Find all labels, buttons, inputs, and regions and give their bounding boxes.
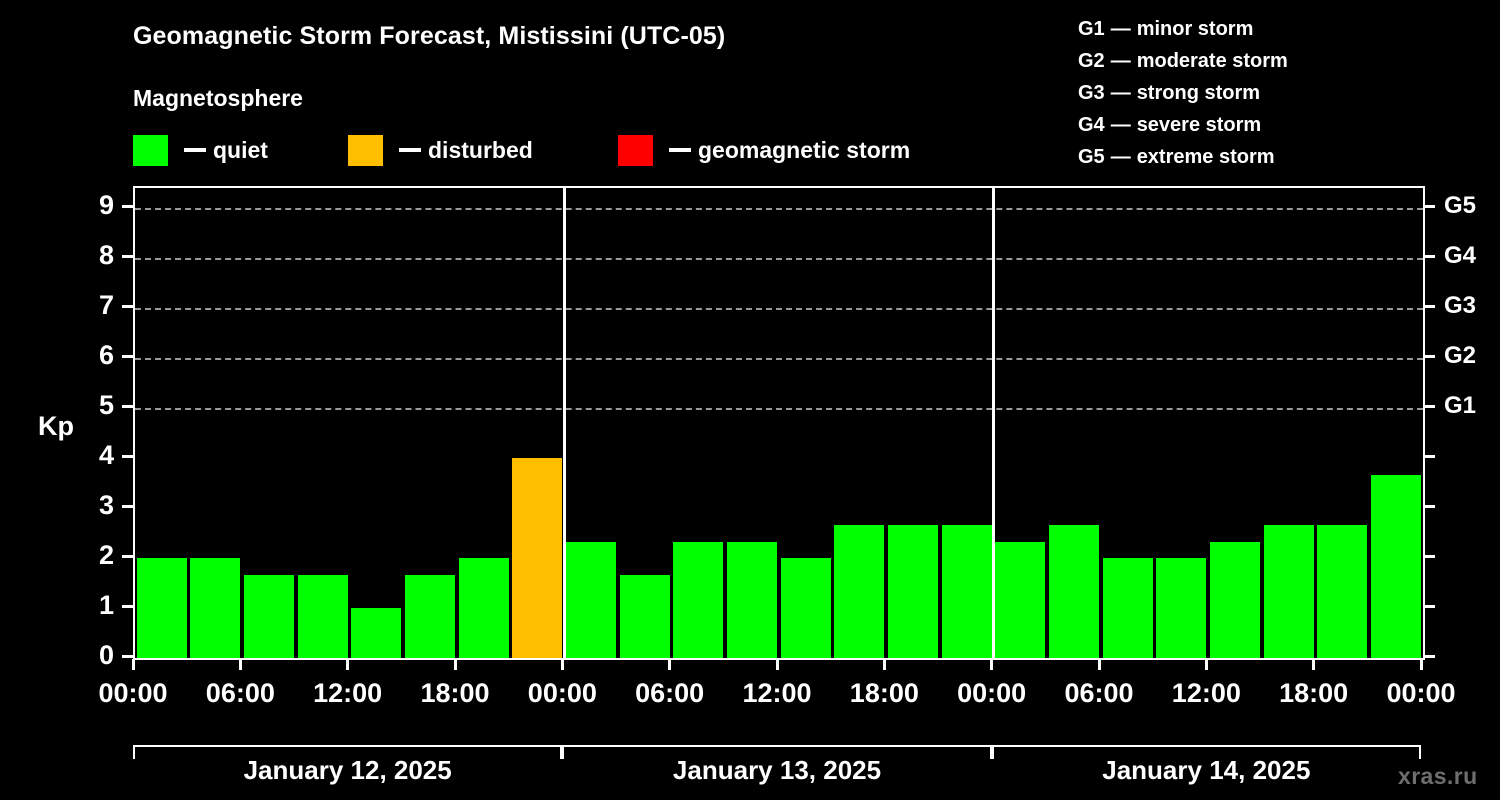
g-tick-mark: [1424, 355, 1435, 358]
x-tick-label: 00:00: [98, 680, 167, 707]
x-tick-mark: [346, 659, 349, 670]
gscale-row-g5: G5—extreme storm: [1078, 141, 1288, 173]
day-separator: [992, 188, 995, 658]
gscale-row-g1: G1—minor storm: [1078, 13, 1288, 45]
x-tick-mark: [776, 659, 779, 670]
gscale-dash-icon: —: [1111, 18, 1131, 41]
x-tick-label: 18:00: [850, 680, 919, 707]
g-tick-mark-minor: [1424, 505, 1435, 508]
y-tick-label: 8: [72, 242, 114, 269]
bar: [459, 558, 509, 658]
gscale-dash-icon: —: [1111, 146, 1131, 169]
y-tick-mark: [122, 255, 133, 258]
gscale-dash-icon: —: [1111, 114, 1131, 137]
gscale-code: G1: [1078, 18, 1105, 41]
x-tick-label: 00:00: [1386, 680, 1455, 707]
y-tick-label: 6: [72, 342, 114, 369]
bar: [244, 575, 294, 659]
x-tick-label: 06:00: [1064, 680, 1133, 707]
y-axis-title: Kp: [38, 411, 74, 442]
x-tick-mark: [990, 659, 993, 670]
bar: [995, 542, 1045, 659]
y-tick-mark: [122, 355, 133, 358]
x-tick-mark: [668, 659, 671, 670]
bar: [620, 575, 670, 659]
x-tick-mark: [132, 659, 135, 670]
y-tick-label: 4: [72, 442, 114, 469]
g-tick-mark: [1424, 405, 1435, 408]
y-tick-label: 0: [72, 642, 114, 669]
y-tick-mark: [122, 455, 133, 458]
g-tick-mark-minor: [1424, 455, 1435, 458]
y-tick-label: 2: [72, 542, 114, 569]
legend-swatch-quiet: [133, 135, 168, 166]
y-tick-mark: [122, 205, 133, 208]
gscale-description: severe storm: [1137, 114, 1262, 137]
bar: [781, 558, 831, 658]
bar: [512, 458, 562, 658]
legend-label: geomagnetic storm: [698, 137, 910, 164]
bar: [942, 525, 992, 659]
bar: [888, 525, 938, 659]
y-tick-label: 3: [72, 492, 114, 519]
gridline-kp-5: [135, 408, 1423, 410]
x-tick-label: 18:00: [420, 680, 489, 707]
day-label: January 12, 2025: [244, 755, 452, 786]
bar: [834, 525, 884, 659]
x-tick-mark: [561, 659, 564, 670]
gscale-legend: G1—minor stormG2—moderate stormG3—strong…: [1078, 13, 1288, 173]
g-tick-mark-minor: [1424, 555, 1435, 558]
x-tick-mark: [1312, 659, 1315, 670]
legend-swatch-disturbed: [348, 135, 383, 166]
x-tick-label: 18:00: [1279, 680, 1348, 707]
legend-label: disturbed: [428, 137, 533, 164]
day-separator: [563, 188, 566, 658]
x-tick-label: 00:00: [528, 680, 597, 707]
bar: [190, 558, 240, 658]
x-tick-label: 06:00: [635, 680, 704, 707]
gscale-row-g2: G2—moderate storm: [1078, 45, 1288, 77]
bar: [137, 558, 187, 658]
g-tick-label: G1: [1444, 394, 1476, 418]
bar: [1371, 475, 1421, 659]
gscale-description: minor storm: [1137, 18, 1254, 41]
gridline-kp-7: [135, 308, 1423, 310]
gscale-dash-icon: —: [1111, 82, 1131, 105]
legend-dash-icon: [184, 148, 206, 152]
bar: [727, 542, 777, 659]
magnetosphere-legend: quietdisturbedgeomagnetic storm: [133, 133, 1033, 167]
gridline-kp-8: [135, 258, 1423, 260]
bar: [673, 542, 723, 659]
legend-swatch-geomagnetic-storm: [618, 135, 653, 166]
g-tick-label: G4: [1444, 244, 1476, 268]
gscale-row-g4: G4—severe storm: [1078, 109, 1288, 141]
bar: [1049, 525, 1099, 659]
g-tick-label: G3: [1444, 294, 1476, 318]
g-tick-label: G5: [1444, 194, 1476, 218]
y-tick-mark: [122, 405, 133, 408]
x-tick-mark: [1098, 659, 1101, 670]
gscale-code: G2: [1078, 50, 1105, 73]
day-label: January 14, 2025: [1102, 755, 1310, 786]
legend-entry-disturbed: disturbed: [348, 133, 533, 167]
y-tick-mark: [122, 555, 133, 558]
g-tick-mark: [1424, 205, 1435, 208]
legend-dash-icon: [669, 148, 691, 152]
bar: [1103, 558, 1153, 658]
y-tick-label: 5: [72, 392, 114, 419]
g-tick-label: G2: [1444, 344, 1476, 368]
g-tick-mark-minor: [1424, 655, 1435, 658]
bar: [405, 575, 455, 659]
watermark: xras.ru: [1398, 763, 1478, 790]
g-tick-mark: [1424, 255, 1435, 258]
y-tick-mark: [122, 505, 133, 508]
y-tick-label: 7: [72, 292, 114, 319]
day-label: January 13, 2025: [673, 755, 881, 786]
y-tick-label: 1: [72, 592, 114, 619]
g-tick-mark: [1424, 305, 1435, 308]
plot-frame: [133, 186, 1425, 660]
bar: [1210, 542, 1260, 659]
x-tick-label: 12:00: [313, 680, 382, 707]
bar: [1317, 525, 1367, 659]
gscale-description: strong storm: [1137, 82, 1260, 105]
y-tick-label: 9: [72, 192, 114, 219]
bar: [566, 542, 616, 659]
x-tick-label: 00:00: [957, 680, 1026, 707]
y-tick-mark: [122, 605, 133, 608]
x-tick-label: 12:00: [742, 680, 811, 707]
bar: [1156, 558, 1206, 658]
bar: [1264, 525, 1314, 659]
plot-area: [135, 188, 1423, 658]
x-tick-mark: [454, 659, 457, 670]
gscale-description: extreme storm: [1137, 146, 1275, 169]
bar: [298, 575, 348, 659]
gridline-kp-9: [135, 208, 1423, 210]
gscale-row-g3: G3—strong storm: [1078, 77, 1288, 109]
page-title: Geomagnetic Storm Forecast, Mistissini (…: [133, 22, 725, 51]
legend-entry-quiet: quiet: [133, 133, 268, 167]
gscale-dash-icon: —: [1111, 50, 1131, 73]
legend-dash-icon: [399, 148, 421, 152]
x-tick-mark: [239, 659, 242, 670]
bar: [351, 608, 401, 658]
gridline-kp-6: [135, 358, 1423, 360]
gscale-code: G4: [1078, 114, 1105, 137]
legend-label: quiet: [213, 137, 268, 164]
magnetosphere-heading: Magnetosphere: [133, 85, 303, 112]
y-tick-mark: [122, 655, 133, 658]
x-tick-mark: [1205, 659, 1208, 670]
x-tick-label: 06:00: [206, 680, 275, 707]
gscale-code: G5: [1078, 146, 1105, 169]
y-tick-mark: [122, 305, 133, 308]
x-tick-mark: [1420, 659, 1423, 670]
g-tick-mark-minor: [1424, 605, 1435, 608]
gscale-code: G3: [1078, 82, 1105, 105]
legend-entry-geomagnetic-storm: geomagnetic storm: [618, 133, 910, 167]
gscale-description: moderate storm: [1137, 50, 1288, 73]
x-tick-label: 12:00: [1172, 680, 1241, 707]
x-tick-mark: [883, 659, 886, 670]
